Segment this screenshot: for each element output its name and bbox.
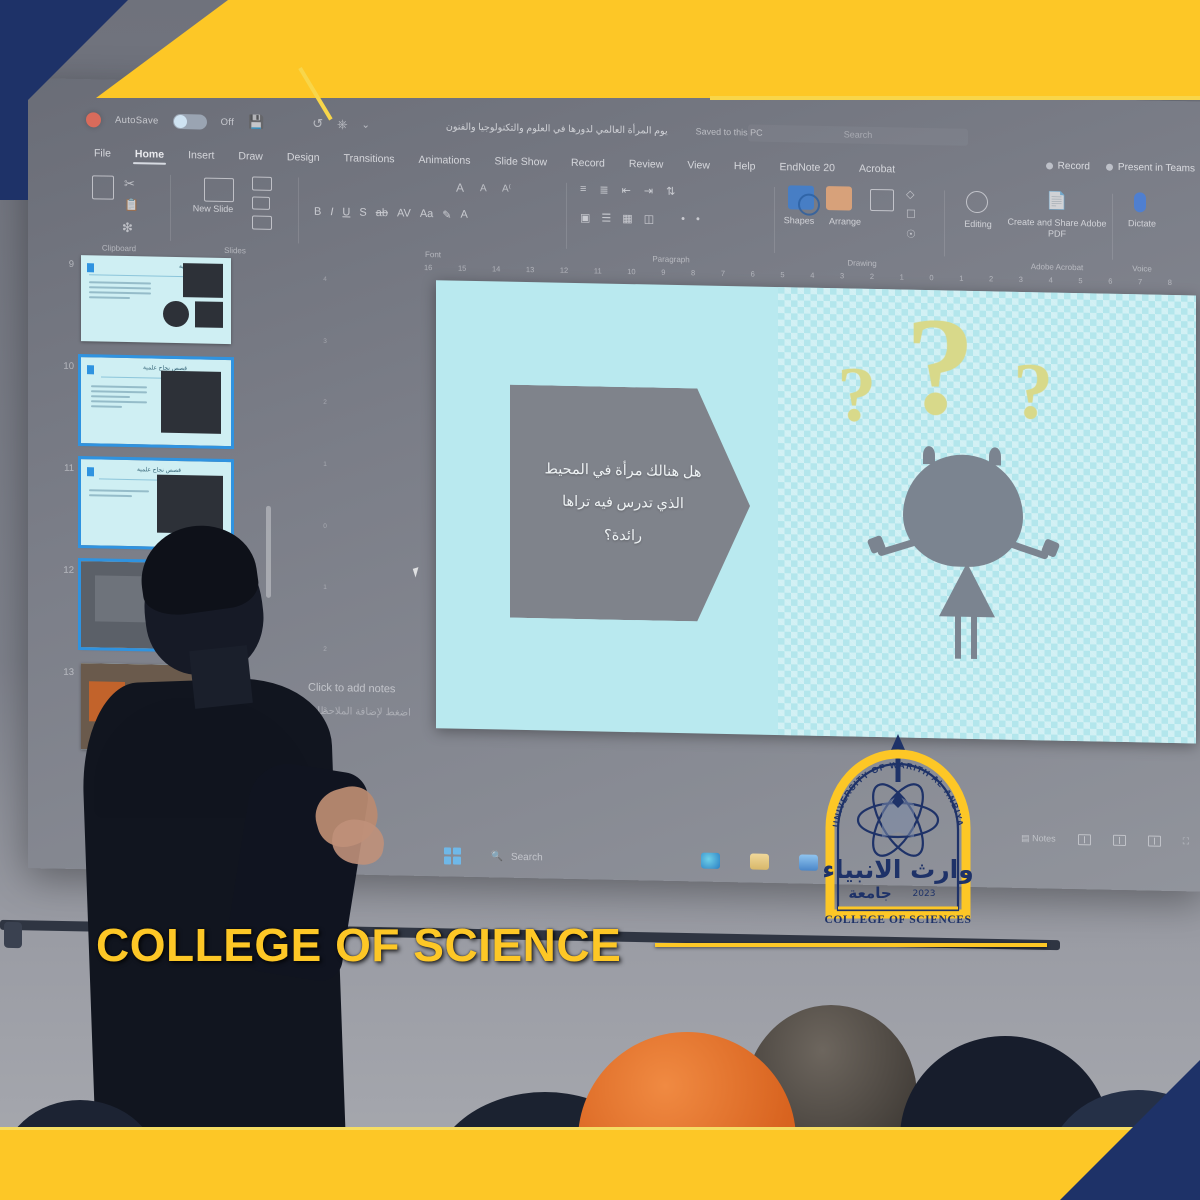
tab-review[interactable]: Review	[617, 158, 675, 171]
logo-arabic-name: وارث الانبياء	[822, 855, 973, 885]
save-icon[interactable]: 💾	[248, 114, 264, 130]
shapes-circle-icon	[798, 193, 820, 215]
dictate-icon[interactable]	[1134, 192, 1146, 212]
character-spacing-icon[interactable]: AV	[397, 207, 411, 220]
numbering-icon[interactable]: ≣	[599, 183, 608, 196]
bottom-yellow-band	[0, 1130, 1200, 1200]
slide-sorter-view-icon[interactable]	[1113, 834, 1126, 845]
thumbnail-number: 9	[58, 255, 74, 270]
ribbon-group-voice: Dictate Voice	[1114, 188, 1170, 275]
thumbnail-preview[interactable]: قصص نجاح علمية	[81, 255, 231, 344]
bullets-icon[interactable]: ≡	[580, 183, 586, 196]
notes-button[interactable]: ▤ Notes	[1021, 832, 1056, 844]
shadow-icon[interactable]: S	[359, 207, 366, 220]
tab-animations[interactable]: Animations	[407, 154, 483, 168]
ruler-tick: 1	[959, 273, 963, 282]
create-share-pdf-label: Create and Share Adobe PDF	[1004, 217, 1110, 242]
ribbon-divider-5	[944, 190, 945, 256]
shape-outline-icon[interactable]: ☐	[906, 208, 916, 221]
change-case-icon[interactable]: Aa	[420, 208, 433, 221]
start-icon[interactable]	[444, 847, 461, 864]
thumbnail-body-lines	[89, 489, 149, 500]
document-title: يوم المرأة العالمي لدورها في العلوم والت…	[446, 121, 668, 136]
tab-file[interactable]: File	[82, 147, 123, 160]
thumbnail-image	[161, 371, 221, 434]
question-line-2: الذي تدرس فيه تراها	[538, 485, 708, 521]
autosave-state: Off	[221, 116, 234, 127]
thumbnail-accent-bar	[87, 467, 94, 476]
thinking-person-silhouette-icon	[877, 439, 1057, 723]
arrange-label: Arrange	[790, 215, 900, 227]
decrease-indent-icon[interactable]: ⇤	[622, 184, 631, 197]
slideshow-view-icon[interactable]: ⛶	[1183, 836, 1189, 847]
reset-icon[interactable]	[252, 196, 270, 209]
ruler-tick: 5	[1078, 276, 1082, 285]
thumbnail-image	[163, 301, 189, 328]
thumbnail-number: 11	[58, 459, 74, 474]
top-yellow-band	[96, 0, 1200, 98]
ribbon-group-slides: New Slide Slides	[180, 169, 290, 257]
ruler-tick: 4	[810, 270, 814, 279]
taskbar-search-placeholder: Search	[511, 851, 543, 863]
ribbon-group-drawing: Shapes Arrange ◇ ☐ ☉ Drawing	[782, 181, 942, 270]
corner-navy-bottom-right	[1060, 1060, 1200, 1200]
font-color-icon[interactable]: A	[461, 209, 468, 222]
search-placeholder: Search	[844, 129, 873, 140]
autosave-toggle[interactable]	[173, 113, 207, 129]
ruler-tick: 13	[526, 264, 534, 273]
adobe-pdf-icon[interactable]: 📄	[1046, 191, 1067, 211]
bold-icon[interactable]: B	[314, 206, 321, 219]
tab-draw[interactable]: Draw	[226, 150, 275, 163]
ruler-tick: 8	[691, 268, 695, 277]
ribbon-group-adobe-acrobat: 📄 Create and Share Adobe PDF Adobe Acrob…	[1004, 186, 1110, 274]
convert-smartart-icon[interactable]: ▦	[622, 212, 632, 225]
edge-icon[interactable]	[701, 852, 720, 868]
vruler-tick: 2	[323, 399, 327, 406]
tab-help[interactable]: Help	[722, 160, 768, 173]
event-photograph: AutoSave Off 💾 ↺ ⎈ ⌄ يوم المرأة العالمي …	[0, 0, 1200, 1200]
ribbon-divider-6	[1112, 194, 1113, 260]
undo-icon[interactable]: ↺	[312, 116, 323, 132]
line-spacing-icon[interactable]: ⇅	[666, 185, 675, 198]
format-painter-icon[interactable]: ❇	[122, 220, 133, 236]
question-mark-large-icon: ?	[905, 297, 975, 438]
screen-frame-cap	[4, 922, 22, 948]
thumbnail-body-lines	[91, 385, 147, 411]
question-line-3: رائدة؟	[538, 518, 708, 554]
search-input[interactable]: Search	[748, 124, 968, 145]
ruler-tick: 7	[1138, 277, 1142, 286]
increase-font-icon[interactable]: A	[456, 181, 464, 195]
decrease-font-icon[interactable]: A	[480, 183, 487, 194]
ruler-tick: 1	[900, 272, 904, 281]
page-title: COLLEGE OF SCIENCE	[96, 918, 621, 972]
thumbnail-image	[195, 301, 223, 328]
ruler-tick: 16	[424, 262, 432, 271]
quick-styles-icon[interactable]	[870, 189, 894, 211]
ruler-tick: 6	[1108, 276, 1112, 285]
ruler-tick: 10	[627, 267, 635, 276]
align-center-icon[interactable]: •	[696, 213, 700, 226]
ruler-tick: 3	[1019, 274, 1023, 283]
ribbon-group-font: A A A⁽ B I U S ab AV Aa ✎	[308, 172, 558, 263]
ruler-tick: 8	[1168, 277, 1172, 286]
logo-year: 2023	[913, 889, 936, 899]
group-label-voice: Voice	[1114, 264, 1170, 274]
ruler-tick: 15	[458, 263, 466, 272]
question-mark-small-left-icon: ?	[837, 355, 876, 434]
tab-transitions[interactable]: Transitions	[332, 152, 407, 166]
reading-view-icon[interactable]	[1148, 835, 1161, 846]
text-highlight-icon[interactable]: ✎	[442, 208, 451, 221]
more-icon[interactable]: ⌄	[362, 119, 370, 130]
section-icon[interactable]	[252, 215, 272, 229]
arrange-icon[interactable]	[826, 186, 852, 211]
underline-icon[interactable]: U	[342, 206, 350, 219]
search-icon: 🔍	[491, 851, 503, 862]
ruler-tick: 4	[1049, 275, 1053, 284]
align-text-icon[interactable]: ☰	[601, 212, 611, 225]
ruler-tick: 14	[492, 264, 500, 273]
ruler-tick: 7	[721, 268, 725, 277]
logo-subtitle: COLLEGE OF SCIENCES	[824, 914, 971, 926]
text-direction-icon[interactable]: ▣	[580, 211, 590, 224]
vruler-tick: 4	[323, 276, 327, 283]
thumbnail-number: 10	[58, 357, 74, 372]
tab-acrobat[interactable]: Acrobat	[847, 162, 907, 175]
tab-design[interactable]: Design	[275, 151, 332, 164]
tab-slide-show[interactable]: Slide Show	[483, 155, 560, 169]
ruler-tick: 12	[560, 265, 568, 274]
ruler-tick: 11	[594, 266, 602, 275]
thumbnail-title: قصص نجاح علمية	[137, 466, 181, 474]
ruler-tick: 6	[751, 269, 755, 278]
taskbar-search[interactable]: 🔍 Search	[491, 851, 671, 866]
tab-record[interactable]: Record	[559, 157, 617, 170]
ruler-tick: 2	[870, 271, 874, 280]
group-label-clipboard: Clipboard	[76, 243, 162, 254]
shape-effects-icon[interactable]: ☉	[906, 228, 916, 241]
ruler-tick: 2	[989, 274, 993, 283]
ribbon-group-paragraph: ≡ ≣ ⇤ ⇥ ⇅ ▣ ☰ ▦ ◫ •	[576, 177, 766, 267]
new-slide-icon[interactable]	[204, 178, 234, 203]
ribbon-group-clipboard: ✂ 📋 ❇ Clipboard	[76, 167, 162, 255]
question-shape[interactable]: هل هنالك مرأة في المحيط الذي تدرس فيه تر…	[510, 385, 750, 623]
poster-canvas: AutoSave Off 💾 ↺ ⎈ ⌄ يوم المرأة العالمي …	[0, 0, 1200, 1200]
clear-formatting-icon[interactable]: A⁽	[502, 184, 511, 195]
shape-fill-icon[interactable]: ◇	[906, 188, 914, 201]
ribbon-group-editing: Editing	[946, 184, 1010, 271]
ribbon-divider-3	[566, 183, 567, 249]
logo-arabic-sub: جامعة	[848, 884, 891, 902]
tab-home[interactable]: Home	[123, 148, 176, 161]
thumbnail-preview[interactable]: قصص نجاح علمية	[81, 357, 231, 446]
tab-view[interactable]: View	[675, 159, 722, 172]
columns-icon[interactable]: ◫	[644, 212, 654, 225]
corner-navy-top-left	[0, 0, 128, 128]
increase-indent-icon[interactable]: ⇥	[644, 184, 653, 197]
thumbnail-number: 13	[58, 663, 74, 678]
paste-icon[interactable]	[92, 175, 114, 199]
dictate-label: Dictate	[1114, 218, 1170, 229]
thumbnail-item-10[interactable]: 10 قصص نجاح علمية	[58, 357, 231, 446]
question-mark-small-right-icon: ?	[1013, 352, 1053, 433]
redo-icon[interactable]: ⎈	[337, 116, 347, 132]
ruler-tick: 0	[929, 273, 933, 282]
editing-label: Editing	[946, 218, 1010, 229]
present-in-teams-button[interactable]: Present in Teams	[1106, 162, 1195, 175]
university-logo: وارث الانبياء جامعة 2023 UNIVERSITY OF W…	[812, 728, 984, 928]
ribbon-divider-2	[298, 177, 299, 243]
tab-endnote[interactable]: EndNote 20	[768, 161, 847, 175]
thumbnail-accent-bar	[87, 365, 94, 374]
bottom-yellow-rule	[0, 1127, 1200, 1130]
copy-icon[interactable]: 📋	[124, 198, 139, 212]
top-yellow-rule	[710, 96, 1200, 100]
strikethrough-icon[interactable]: ab	[376, 207, 388, 220]
italic-icon[interactable]: I	[330, 206, 333, 219]
record-button[interactable]: Record	[1046, 160, 1090, 172]
vruler-tick: 1	[323, 461, 327, 468]
current-slide[interactable]: هل هنالك مرأة في المحيط الذي تدرس فيه تر…	[436, 280, 1196, 743]
layout-icon[interactable]	[252, 176, 272, 190]
thumbnail-item-9[interactable]: 9 قصص نجاح علمية	[58, 255, 231, 344]
thumbnail-image	[183, 263, 223, 298]
file-explorer-icon[interactable]	[750, 853, 769, 869]
thumbnail-number: 12	[58, 561, 74, 576]
cut-icon[interactable]: ✂	[124, 176, 135, 192]
ruler-tick: 3	[840, 271, 844, 280]
tab-insert[interactable]: Insert	[176, 149, 226, 162]
presenter-silhouette	[88, 520, 418, 1160]
headline-rule	[655, 943, 1047, 947]
question-line-1: هل هنالك مرأة في المحيط	[538, 453, 708, 489]
search-icon[interactable]	[966, 191, 988, 213]
vruler-tick: 3	[323, 338, 327, 345]
thumbnail-accent-bar	[87, 263, 94, 272]
ruler-tick: 5	[780, 270, 784, 279]
slide-canvas[interactable]: هل هنالك مرأة في المحيط الذي تدرس فيه تر…	[436, 280, 1196, 743]
normal-view-icon[interactable]	[1078, 834, 1091, 845]
ruler-tick: 9	[661, 267, 665, 276]
align-left-icon[interactable]: •	[681, 213, 685, 226]
thumbnail-body-lines	[89, 281, 151, 302]
